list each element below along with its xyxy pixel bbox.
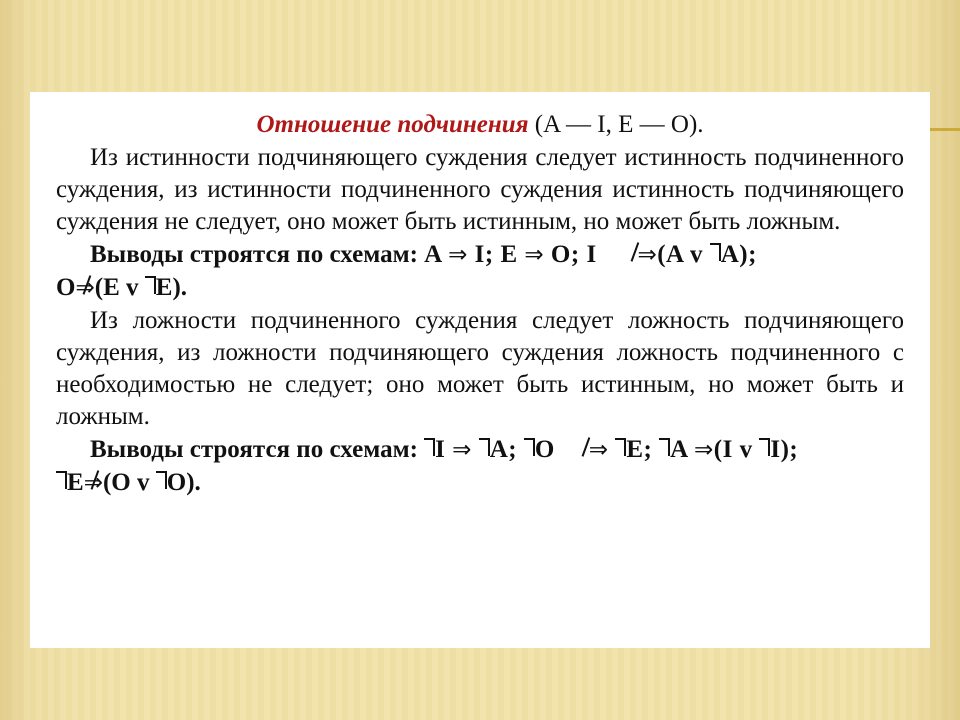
token-E: E — [500, 241, 517, 268]
lparen: ( — [95, 274, 103, 301]
paragraph-1: Из истинности подчиняющего суждения след… — [56, 142, 904, 238]
rparen: ) — [186, 469, 194, 496]
period: . — [181, 274, 187, 301]
disjunction: v — [740, 436, 753, 463]
period: . — [195, 469, 201, 496]
token-I: I — [475, 241, 485, 268]
lparen: ( — [714, 436, 723, 463]
title-red-part: Отношение подчинения — [256, 111, 528, 138]
token-I: I — [770, 436, 780, 463]
disjunction: v — [126, 274, 139, 301]
rparen: ) — [172, 274, 180, 301]
token-A: A — [424, 241, 441, 268]
arrow-icon: ⇒ — [448, 242, 468, 268]
schema-2-line-1: Выводы строятся по схемам: I ⇒ A; O⇒ E; … — [56, 434, 904, 466]
arrow-negated-icon: ⇒ — [555, 436, 609, 465]
arrow-negated-icon: ⇒ — [75, 274, 94, 303]
sep-2: ; — [644, 436, 653, 463]
sep-1: ; — [508, 436, 517, 463]
arrow-icon: ⇒ — [694, 437, 714, 463]
token-I: I — [586, 241, 596, 268]
token-A: A — [721, 241, 740, 268]
token-O: O — [167, 469, 186, 496]
token-A: A — [670, 436, 687, 463]
page-title: Отношение подчинения (A — I, E — O). — [56, 110, 904, 140]
token-E: E — [103, 274, 120, 301]
schema-1-expr: A ⇒ I; E ⇒ O; I ⇒(A v A); — [424, 241, 757, 268]
token-O: O — [56, 274, 75, 301]
sep-3: ; — [789, 436, 798, 463]
sep-1: ; — [485, 241, 494, 268]
schema-1-lead: Выводы строятся по схемам: — [90, 241, 418, 268]
token-A: A — [490, 436, 509, 463]
arrow-icon: ⇒ — [452, 437, 472, 463]
sep-2: ; — [571, 241, 580, 268]
schema-2-lead: Выводы строятся по схемам: — [90, 436, 418, 463]
arrow-negated-icon: ⇒ — [84, 469, 103, 498]
title-black-part: (A — I, E — O). — [535, 111, 704, 138]
token-E: E — [626, 436, 643, 463]
content-card: Отношение подчинения (A — I, E — O). Из … — [30, 92, 930, 648]
token-E: E — [156, 274, 173, 301]
token-O: O — [111, 469, 130, 496]
arrow-icon: ⇒ — [524, 242, 544, 268]
schema-2-line-2: E⇒(O v O). — [56, 467, 904, 499]
disjunction: v — [690, 241, 703, 268]
token-O: O — [551, 241, 571, 268]
schema-1-line-2: O⇒(E v E). — [56, 272, 904, 304]
lparen: ( — [657, 241, 666, 268]
token-E: E — [67, 469, 84, 496]
disjunction: v — [137, 469, 150, 496]
arrow-negated-icon: ⇒ — [603, 241, 657, 270]
schema-1-line-1: Выводы строятся по схемам: A ⇒ I; E ⇒ O;… — [56, 239, 904, 271]
rparen: ) — [739, 241, 748, 268]
schema-2-expr: I ⇒ A; O⇒ E; A ⇒(I v I); — [424, 436, 798, 463]
token-I: I — [723, 436, 733, 463]
paragraph-2: Из ложности подчиненного суждения следуе… — [56, 305, 904, 433]
slide: Отношение подчинения (A — I, E — O). Из … — [0, 0, 960, 720]
token-A: A — [666, 241, 683, 268]
sep-3: ; — [748, 241, 757, 268]
token-O: O — [535, 436, 555, 463]
token-I: I — [435, 436, 445, 463]
